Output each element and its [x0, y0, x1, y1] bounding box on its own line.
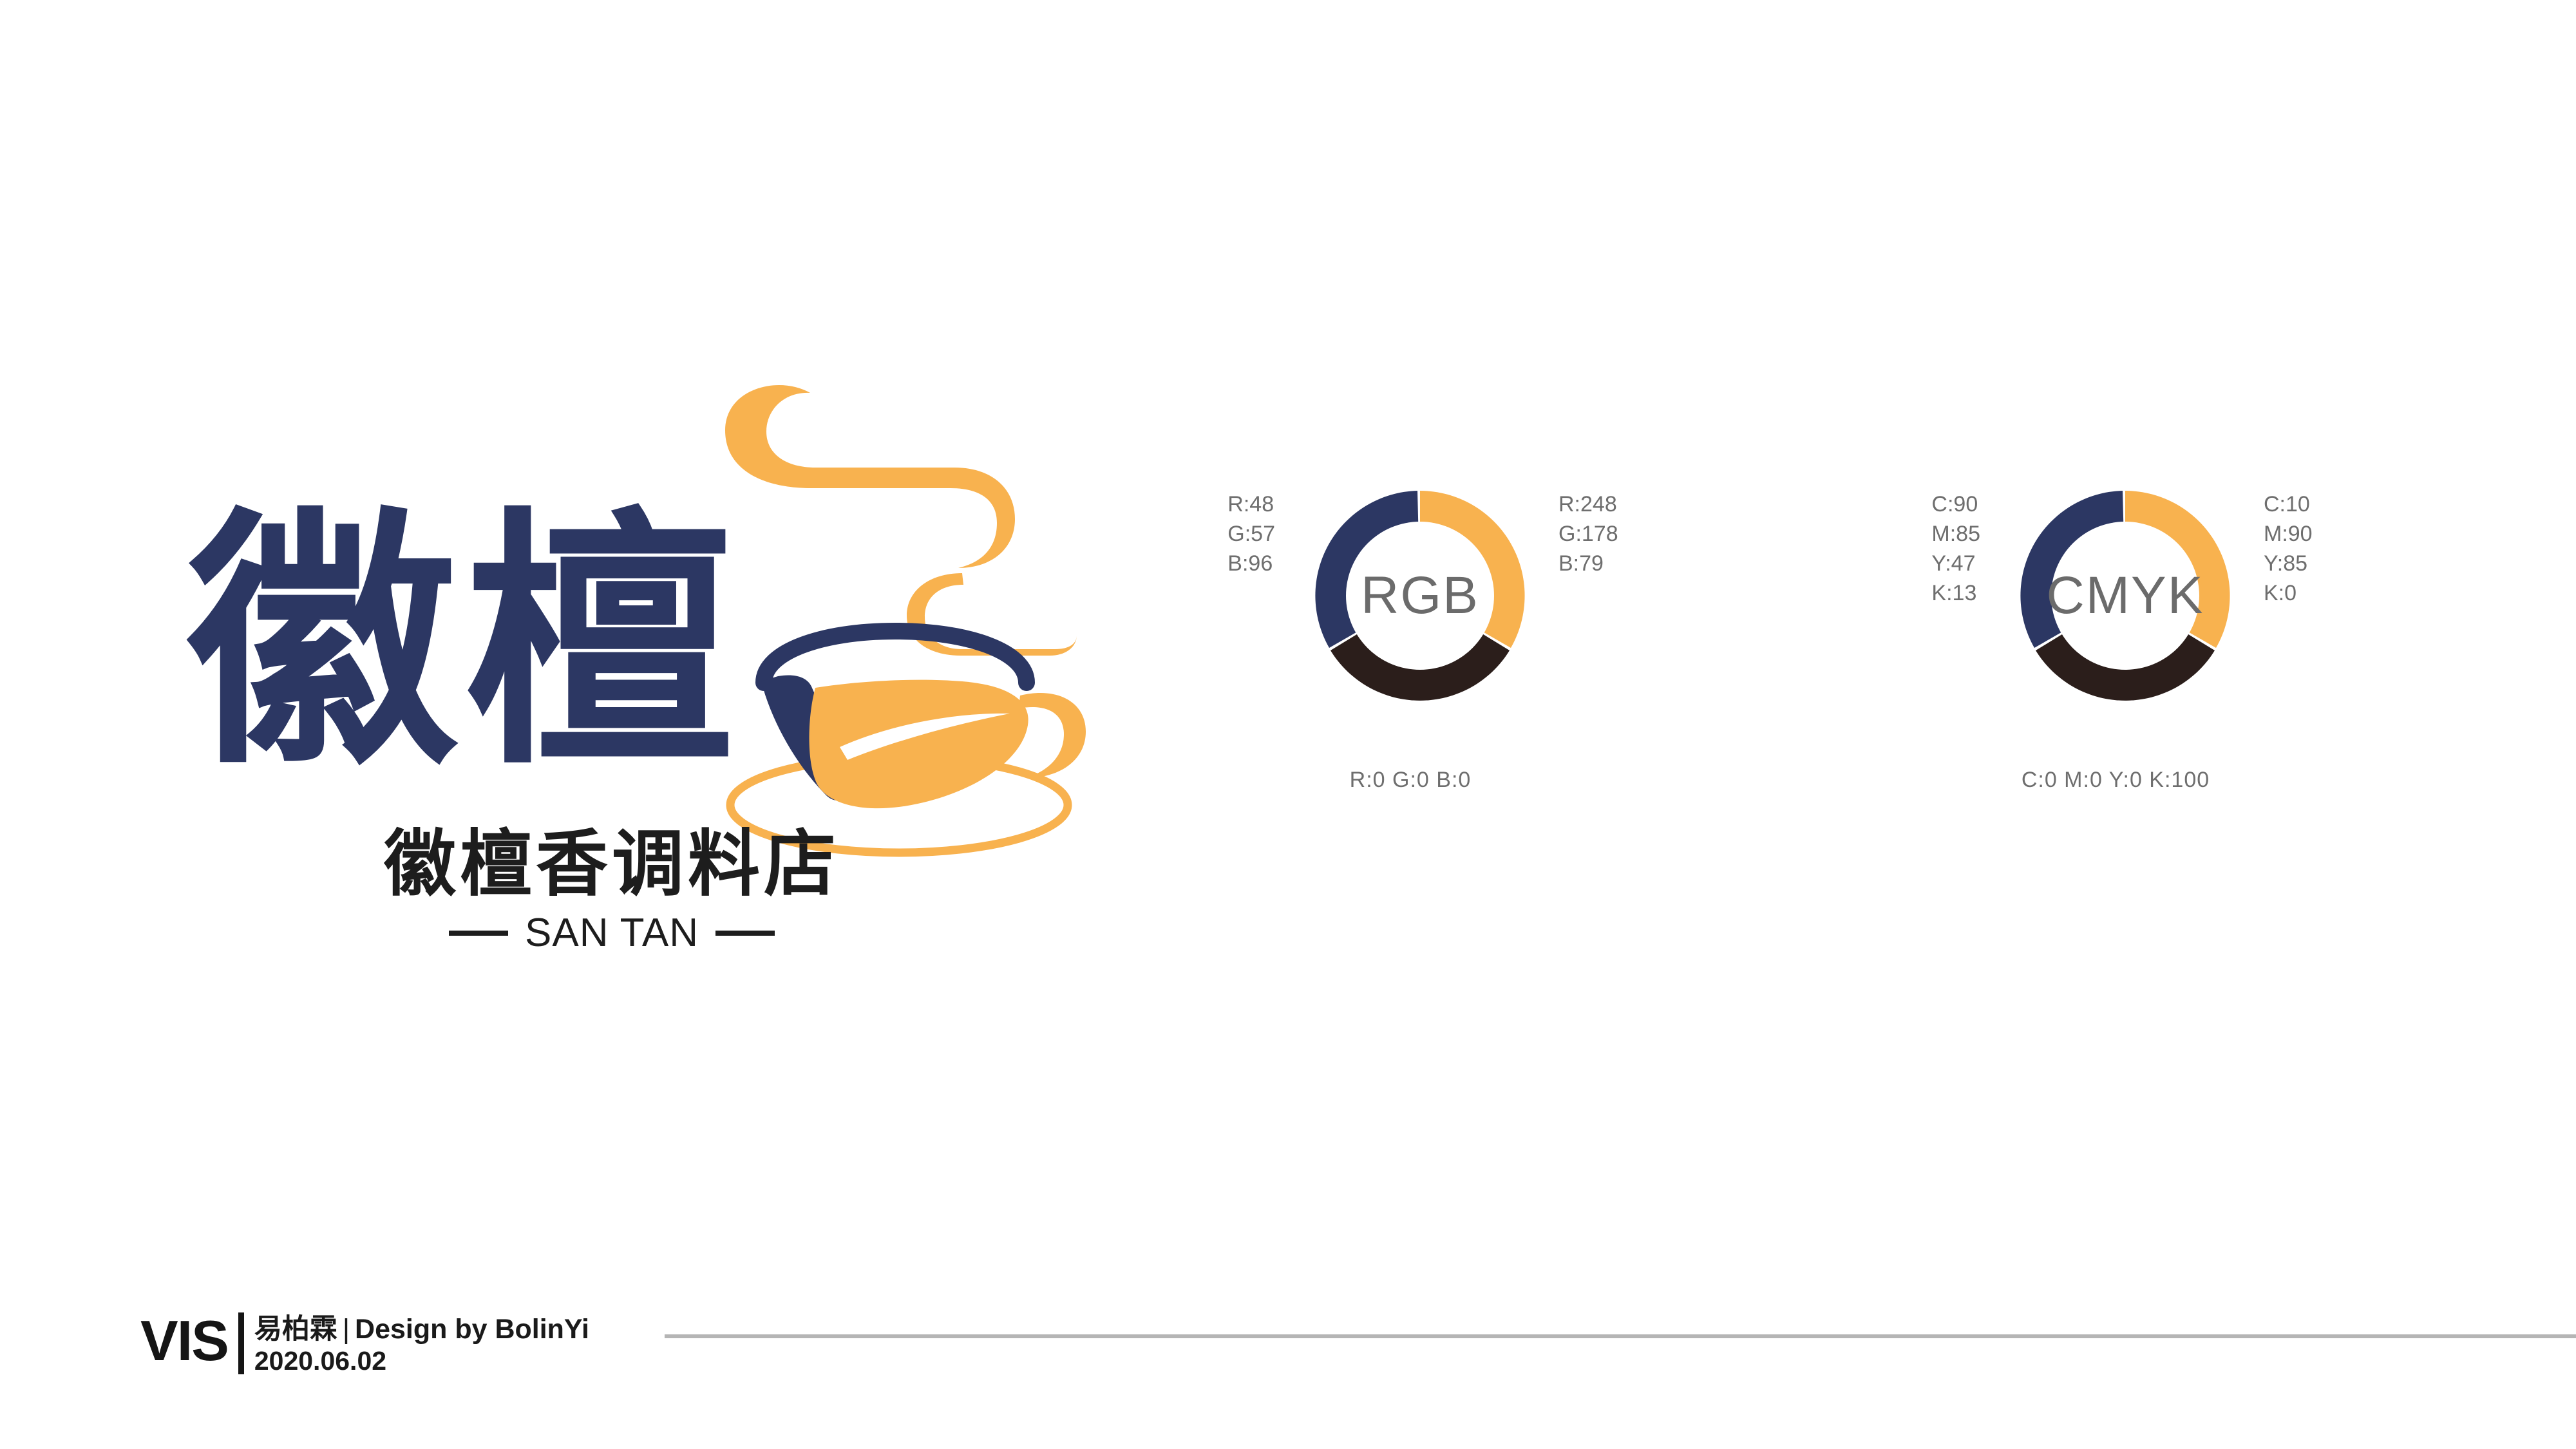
cmyk-black-values: C:0 M:0 Y:0 K:100	[1826, 765, 2405, 795]
cup-rim-navy	[764, 631, 1027, 683]
rgb-color-swatch: R:48 G:57 B:96 R:248 G:178 B:79 RGB R:0 …	[1121, 451, 1700, 992]
tagline-rule-right	[715, 931, 775, 936]
rgb-donut-chart: RGB	[1298, 473, 1542, 718]
cmyk-navy-values: C:90 M:85 Y:47 K:13	[1931, 489, 1980, 608]
footer-divider-bar	[238, 1312, 244, 1374]
rgb-donut-center-label: RGB	[1298, 473, 1542, 718]
tagline-rule-left	[449, 931, 508, 936]
footer-horizontal-rule	[665, 1334, 2576, 1338]
footer-pipe-separator: |	[343, 1314, 350, 1345]
logo-tagline-latin-row: SAN TAN	[341, 913, 882, 953]
brand-logo-lockup: 徽檀 徽檀香调料店 SAN TAN	[174, 361, 1114, 1069]
cup-body	[810, 680, 1028, 809]
cmyk-color-swatch: C:90 M:85 Y:47 K:13 C:10 M:90 Y:85 K:0 C…	[1826, 451, 2405, 992]
rgb-navy-values: R:48 G:57 B:96	[1227, 489, 1275, 578]
cup-handle	[1019, 693, 1086, 778]
coffee-cup-with-steam-icon	[702, 361, 1114, 863]
logo-wordmark: 徽檀	[187, 509, 766, 786]
rgb-black-values: R:0 G:0 B:0	[1121, 765, 1700, 795]
cmyk-donut-center-label: CMYK	[2003, 473, 2248, 718]
steam-upper-curl	[725, 385, 1015, 568]
logo-tagline: 徽檀香调料店 SAN TAN	[341, 824, 882, 953]
footer-credit-line: 易柏霖 | Design by BolinYi	[254, 1314, 589, 1345]
footer-designer-name-cn: 易柏霖	[254, 1314, 337, 1345]
footer-credit-block: VIS 易柏霖 | Design by BolinYi 2020.06.02	[140, 1312, 589, 1376]
page-footer: VIS 易柏霖 | Design by BolinYi 2020.06.02	[0, 1307, 2576, 1449]
logo-tagline-chinese: 徽檀香调料店	[341, 824, 882, 904]
footer-text-stack: 易柏霖 | Design by BolinYi 2020.06.02	[254, 1312, 589, 1376]
footer-designer-credit: Design by BolinYi	[355, 1314, 589, 1345]
rgb-orange-values: R:248 G:178 B:79	[1558, 489, 1618, 578]
cmyk-orange-values: C:10 M:90 Y:85 K:0	[2264, 489, 2313, 608]
cmyk-donut-chart: CMYK	[2003, 473, 2248, 718]
footer-date: 2020.06.02	[254, 1346, 589, 1376]
footer-vis-label: VIS	[140, 1312, 228, 1369]
logo-tagline-latin: SAN TAN	[525, 913, 699, 953]
